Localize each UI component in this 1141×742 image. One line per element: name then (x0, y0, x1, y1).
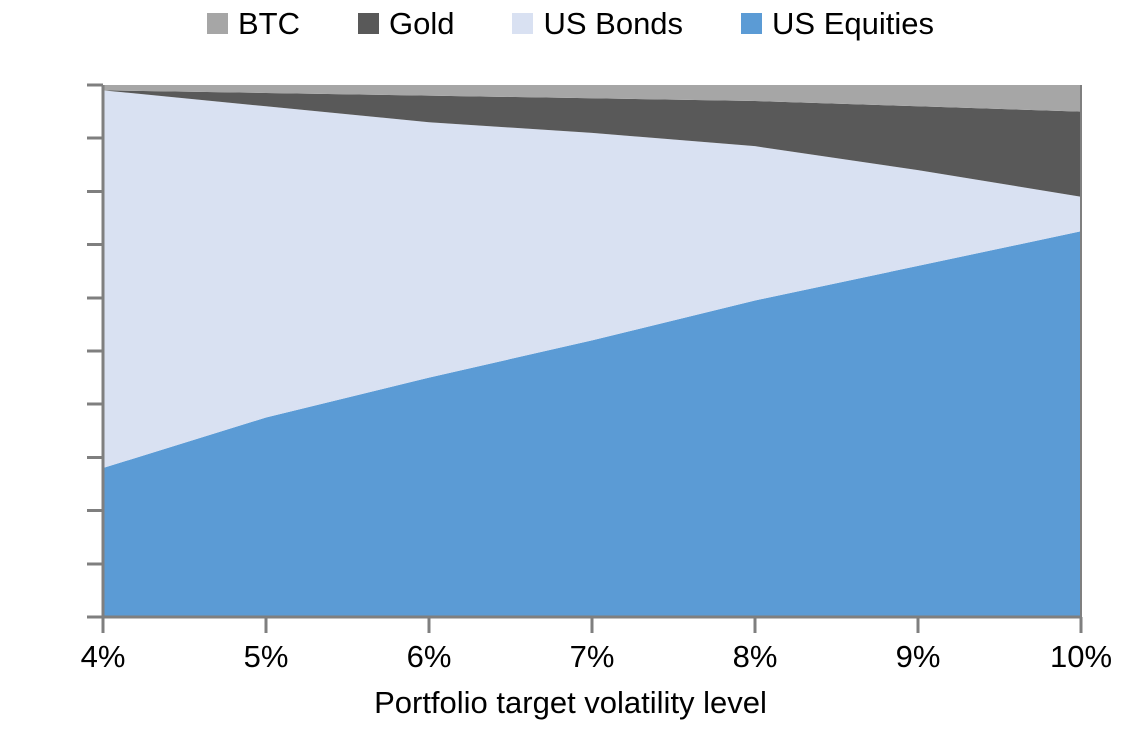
x-axis-title: Portfolio target volatility level (0, 686, 1141, 720)
x-axis-tick-label: 9% (896, 641, 941, 672)
x-axis-tick-label: 8% (733, 641, 778, 672)
x-axis-tick-label: 4% (81, 641, 126, 672)
x-axis-tick-labels: 4%5%6%7%8%9%10% (0, 0, 1141, 742)
stacked-area-chart: BTC Gold US Bonds US Equities 100%90%80%… (0, 0, 1141, 742)
x-axis-tick-label: 6% (407, 641, 452, 672)
x-axis-tick-label: 5% (244, 641, 289, 672)
x-axis-tick-label: 10% (1050, 641, 1112, 672)
x-axis-tick-label: 7% (570, 641, 615, 672)
